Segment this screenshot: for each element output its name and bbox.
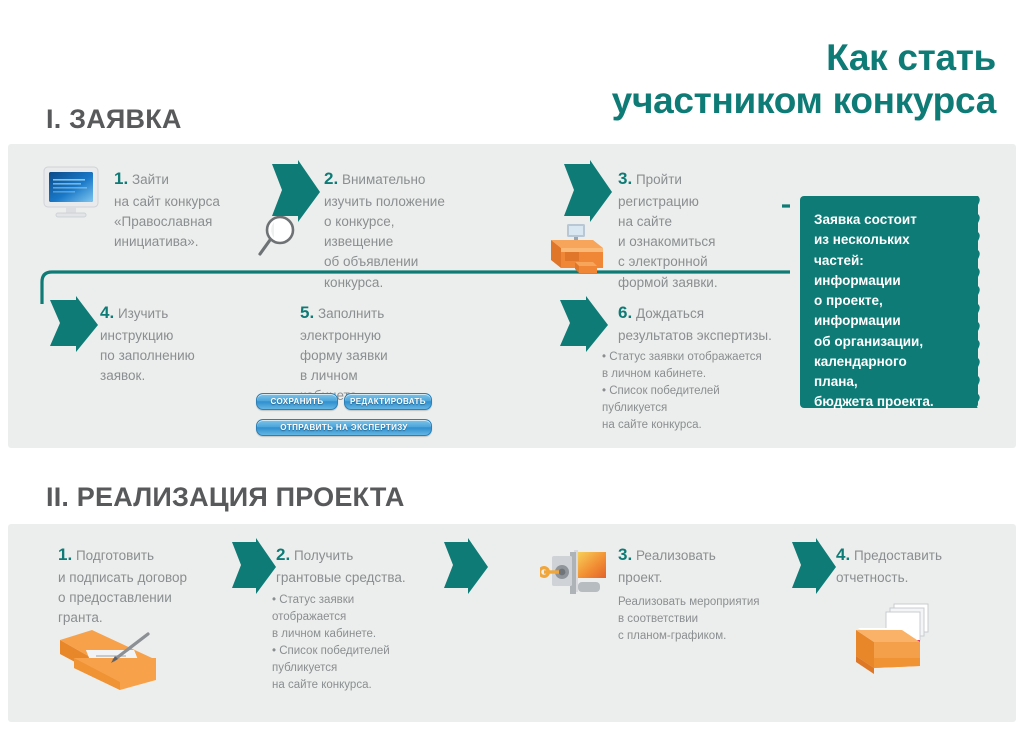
step-2-1: 1. Подготовить и подписать договор о пре… [58,542,238,628]
step-2-3: 3. Реализовать проект. [618,542,788,588]
send-for-review-button[interactable]: ОТПРАВИТЬ НА ЭКСПЕРТИЗУ [256,419,432,436]
arrow-step2-3-to-2-4 [788,538,838,596]
infographic-page: Как стать участником конкурса I. ЗАЯВКА [0,0,1024,736]
arrow-step2-2-to-2-3 [440,538,490,596]
arrow-to-step4 [46,296,100,354]
page-title-line2: участником конкурса [612,79,996,122]
step-2-4-num: 4. [836,545,850,564]
step-2-4: 4. Предоставить отчетность. [836,542,996,588]
step-2-1-num: 1. [58,545,72,564]
step-2-4-body: отчетность. [836,568,996,588]
step-2-2: 2. Получить грантовые средства. [276,542,446,588]
step-2-3-num: 3. [618,545,632,564]
step-2-1-head: Подготовить [76,548,154,563]
step-1-6-bullets: • Статус заявки отображается в личном ка… [602,349,802,434]
step-1-3-num: 3. [618,169,632,188]
step-1-1-head: Зайти [132,172,169,187]
save-button[interactable]: СОХРАНИТЬ [256,393,338,410]
step-1-2: 2. Внимательно изучить положение о конку… [324,166,484,293]
callout-torn-edge [970,196,986,408]
step-2-3-note: Реализовать мероприятия в соответствии с… [618,594,818,645]
step-1-3-head: Пройти [636,172,682,187]
step-1-4-head: Изучить [118,306,168,321]
step-1-3-body: регистрацию на сайте и ознакомиться с эл… [618,192,778,293]
folder-pen-icon [56,624,166,690]
step-1-1: 1. Зайти на сайт конкурса «Православная … [114,166,264,252]
arrow-step2-to-step3 [560,160,614,224]
step-2-1-body: и подписать договор о предоставлении гра… [58,568,238,629]
lock-key-icon [540,548,610,600]
step-1-3: 3. Пройти регистрацию на сайте и ознаком… [618,166,778,293]
desk-computer-icon [545,218,605,274]
arrow-step2-1-to-2-2 [228,538,278,596]
step-1-4-body: инструкцию по заполнению заявок. [100,326,250,387]
arrow-step5-to-step6 [556,296,610,354]
step-2-3-head: Реализовать [636,548,716,563]
step-1-4: 4. Изучить инструкцию по заполнению заяв… [100,300,250,386]
callout-text: Заявка состоит из нескольких частей: инф… [814,210,968,413]
step-1-5: 5. Заполнить электронную форму заявки в … [300,300,450,407]
monitor-icon [40,165,102,223]
callout-application-parts: Заявка состоит из нескольких частей: инф… [800,196,992,408]
edit-button[interactable]: РЕДАКТИРОВАТЬ [344,393,432,410]
step-1-1-num: 1. [114,169,128,188]
step-1-5-num: 5. [300,303,314,322]
step-1-4-num: 4. [100,303,114,322]
step-1-1-body: на сайт конкурса «Православная инициатив… [114,192,264,253]
step-2-2-body: грантовые средства. [276,568,446,588]
step-2-2-bullets: • Статус заявки отображается в личном ка… [272,592,442,694]
step-1-5-head: Заполнить [318,306,384,321]
step-1-6-num: 6. [618,303,632,322]
step-1-2-body: изучить положение о конкурсе, извещение … [324,192,484,293]
step-2-4-head: Предоставить [854,548,942,563]
step-1-6-head: Дождаться [636,306,704,321]
arrow-step1-to-step2 [268,160,322,224]
page-title: Как стать участником конкурса [612,36,996,123]
printer-docs-icon [850,598,950,674]
page-title-line1: Как стать [612,36,996,79]
section-heading-realizaciya: II. РЕАЛИЗАЦИЯ ПРОЕКТА [46,482,405,513]
step-2-2-num: 2. [276,545,290,564]
step-1-2-head: Внимательно [342,172,425,187]
step-1-2-num: 2. [324,169,338,188]
step-2-2-head: Получить [294,548,353,563]
section-heading-zayavka: I. ЗАЯВКА [46,104,182,135]
step-2-3-body: проект. [618,568,788,588]
